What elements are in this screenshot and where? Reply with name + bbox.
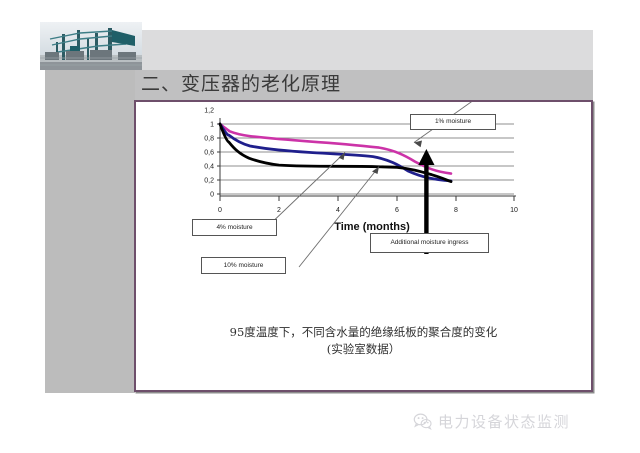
chart-y-ticklabels: 1,2 1 0,8 0,6 0,4 0,2 0 (204, 108, 214, 199)
slide-left-column (45, 30, 135, 393)
chart-y-axis (217, 118, 220, 196)
chart-gridlines (220, 124, 514, 194)
watermark-text: 电力设备状态监测 (438, 411, 570, 432)
x-tick-4: 4 (336, 207, 340, 214)
y-tick-0-8: 0,8 (204, 136, 214, 143)
wechat-icon (413, 412, 432, 431)
x-tick-8: 8 (454, 207, 458, 214)
annotation-additional-moisture-ingress[interactable]: Additional moisture ingress (370, 233, 489, 253)
annotation-10pct-moisture[interactable]: 10% moisture (201, 257, 286, 274)
leader-line-10pct (299, 167, 379, 267)
page-title: 二、变压器的老化原理 (141, 70, 441, 98)
chart-x-ticklabels: 0 2 4 6 8 10 (218, 207, 518, 214)
y-tick-1: 1 (210, 122, 214, 129)
caption-line-1: 95度温度下，不同含水量的绝缘纸板的聚合度的变化 (230, 325, 498, 339)
y-tick-0-6: 0,6 (204, 150, 214, 157)
slide-header-band-light (135, 30, 593, 70)
chart-x-axis (220, 196, 516, 201)
slide-canvas: 二、变压器的老化原理 (0, 0, 640, 453)
substation-photo-icon (40, 22, 142, 70)
x-tick-10: 10 (510, 207, 518, 214)
caption-line-2: (实验室数据） (136, 341, 591, 358)
annotation-1pct-moisture[interactable]: 1% moisture (410, 114, 496, 130)
content-frame: 1,2 1 0,8 0,6 0,4 0,2 0 0 2 4 6 8 10 (134, 100, 593, 392)
y-tick-1-2: 1,2 (204, 108, 214, 115)
y-tick-0-2: 0,2 (204, 178, 214, 185)
chart-svg: 1,2 1 0,8 0,6 0,4 0,2 0 0 2 4 6 8 10 (136, 102, 591, 327)
annotation-4pct-moisture[interactable]: 4% moisture (192, 219, 277, 236)
annotation-10pct-label: 10% moisture (224, 262, 264, 269)
chart-xlabel: Time (months) (334, 221, 410, 233)
x-tick-2: 2 (277, 207, 281, 214)
chart-caption: 95度温度下，不同含水量的绝缘纸板的聚合度的变化 (实验室数据） (136, 324, 591, 358)
annotation-4pct-label: 4% moisture (216, 224, 252, 231)
annotation-1pct-label: 1% moisture (435, 118, 471, 125)
x-tick-6: 6 (395, 207, 399, 214)
polymerisation-degree-chart: 1,2 1 0,8 0,6 0,4 0,2 0 0 2 4 6 8 10 (136, 102, 591, 327)
y-tick-0: 0 (210, 192, 214, 199)
watermark: 电力设备状态监测 (413, 408, 633, 434)
x-tick-0: 0 (218, 207, 222, 214)
annotation-ingress-label: Additional moisture ingress (390, 239, 468, 246)
y-tick-0-4: 0,4 (204, 164, 214, 171)
